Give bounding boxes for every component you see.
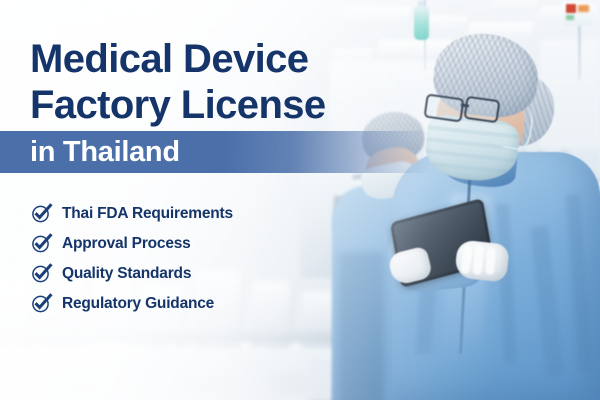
check-circle-icon — [31, 204, 53, 224]
banner: Medical Device Factory License in Thaila… — [0, 0, 600, 400]
checklist-item-label: Regulatory Guidance — [62, 295, 214, 313]
banner-content: Medical Device Factory License in Thaila… — [0, 0, 600, 400]
page-title-line-1: Medical Device — [30, 36, 326, 82]
page-title: Medical Device Factory License — [30, 36, 326, 128]
feature-checklist: Thai FDA Requirements Approval Process — [31, 199, 233, 319]
checklist-item-label: Quality Standards — [62, 265, 191, 283]
check-circle-icon — [31, 294, 53, 314]
check-circle-icon — [31, 264, 53, 284]
checklist-item: Thai FDA Requirements — [31, 199, 233, 229]
check-circle-icon — [31, 234, 53, 254]
checklist-item-label: Thai FDA Requirements — [62, 205, 233, 223]
checklist-item: Quality Standards — [31, 259, 233, 289]
page-title-line-2: Factory License — [30, 82, 326, 128]
checklist-item: Approval Process — [31, 229, 233, 259]
page-subtitle: in Thailand — [30, 135, 180, 169]
checklist-item-label: Approval Process — [62, 235, 191, 253]
checklist-item: Regulatory Guidance — [31, 289, 233, 319]
